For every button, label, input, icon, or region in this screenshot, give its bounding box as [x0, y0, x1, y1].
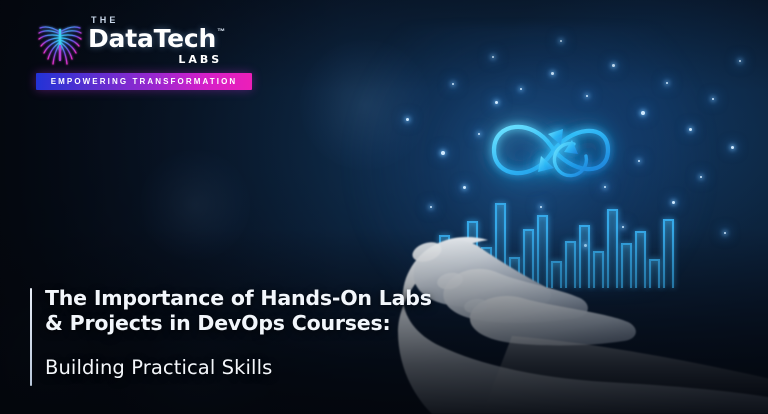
brand-name: DataTech	[88, 26, 216, 51]
brand-tagline-text: EMPOWERING TRANSFORMATION	[51, 77, 238, 86]
banner-canvas: THE DataTech ™ LABS EMPOWERING TRANSFORM…	[0, 0, 768, 414]
brand-labs-label: LABS	[88, 53, 225, 66]
headline-accent-bar	[30, 288, 32, 386]
headline-block: The Importance of Hands-On Labs & Projec…	[30, 286, 432, 379]
brand-logo[interactable]: THE DataTech ™ LABS EMPOWERING TRANSFORM…	[36, 14, 252, 90]
brand-tagline-bar: EMPOWERING TRANSFORMATION	[36, 73, 252, 90]
butterfly-wings-icon	[36, 16, 84, 68]
headline-line-2: & Projects in DevOps Courses:	[45, 311, 432, 336]
trademark-symbol: ™	[217, 28, 225, 36]
headline-line-1: The Importance of Hands-On Labs	[45, 286, 432, 311]
headline-subtitle: Building Practical Skills	[45, 356, 432, 379]
